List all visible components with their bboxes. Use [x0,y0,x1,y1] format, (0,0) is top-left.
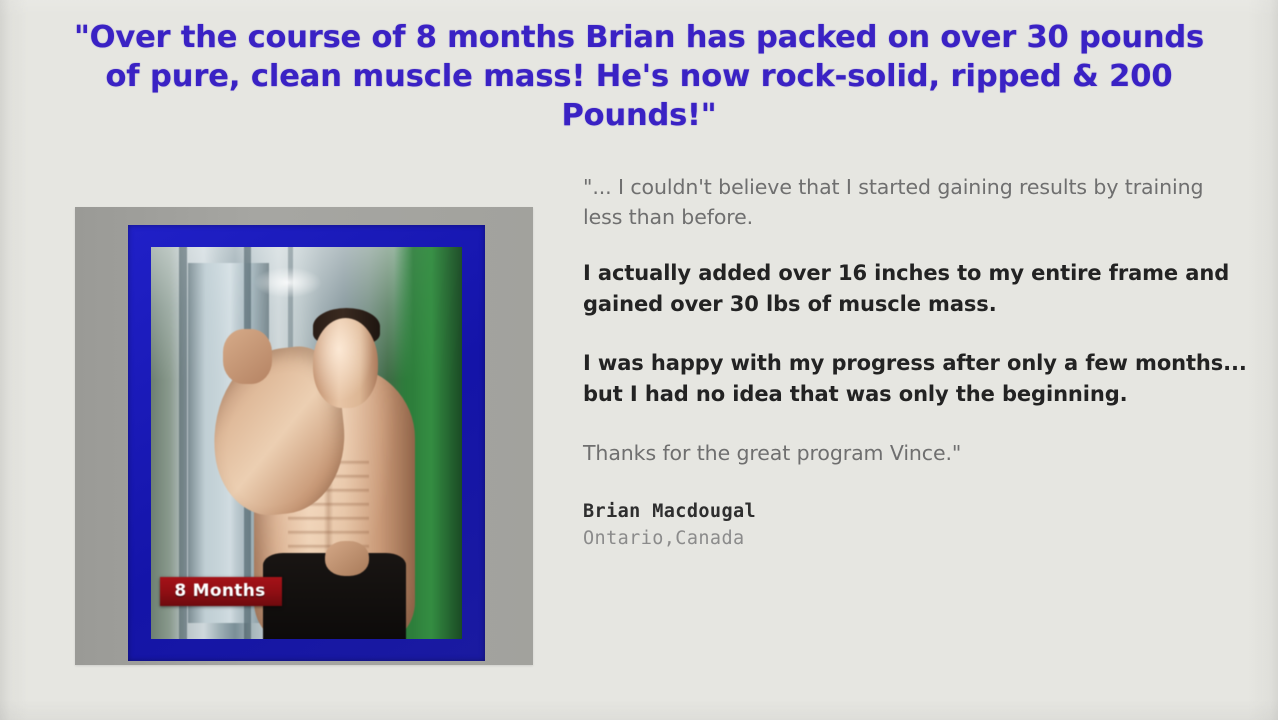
headline-line-2: of pure, clean muscle mass! He's now roc… [30,57,1248,96]
testimonial-paragraph-3: I was happy with my progress after only … [583,348,1248,410]
page-title: "Over the course of 8 months Brian has p… [30,18,1248,135]
testimonial-body: "... I couldn't believe that I started g… [583,172,1248,552]
testimonial-paragraph-2: I actually added over 16 inches to my en… [583,258,1248,320]
testimonial-slide: "Over the course of 8 months Brian has p… [0,0,1278,720]
signature-location: Ontario,Canada [583,525,1248,552]
testimonial-paragraph-4: Thanks for the great program Vince." [583,438,1248,468]
months-caption-badge: 8 Months [160,577,281,606]
headline-line-3: Pounds!" [30,96,1248,135]
photo-outer-frame: 8 Months [75,207,533,665]
testimonial-signature: Brian Macdougal Ontario,Canada [583,498,1248,552]
signature-name: Brian Macdougal [583,498,1248,525]
photo-light-glow [254,267,322,298]
photo-subject-hand [325,541,369,576]
photo-subject-head [313,318,378,408]
headline-line-1: "Over the course of 8 months Brian has p… [30,18,1248,57]
transformation-photo: 8 Months [151,247,462,639]
photo-subject-fist [223,329,273,384]
photo-blue-border: 8 Months [128,225,485,661]
testimonial-paragraph-1: "... I couldn't believe that I started g… [583,172,1248,232]
